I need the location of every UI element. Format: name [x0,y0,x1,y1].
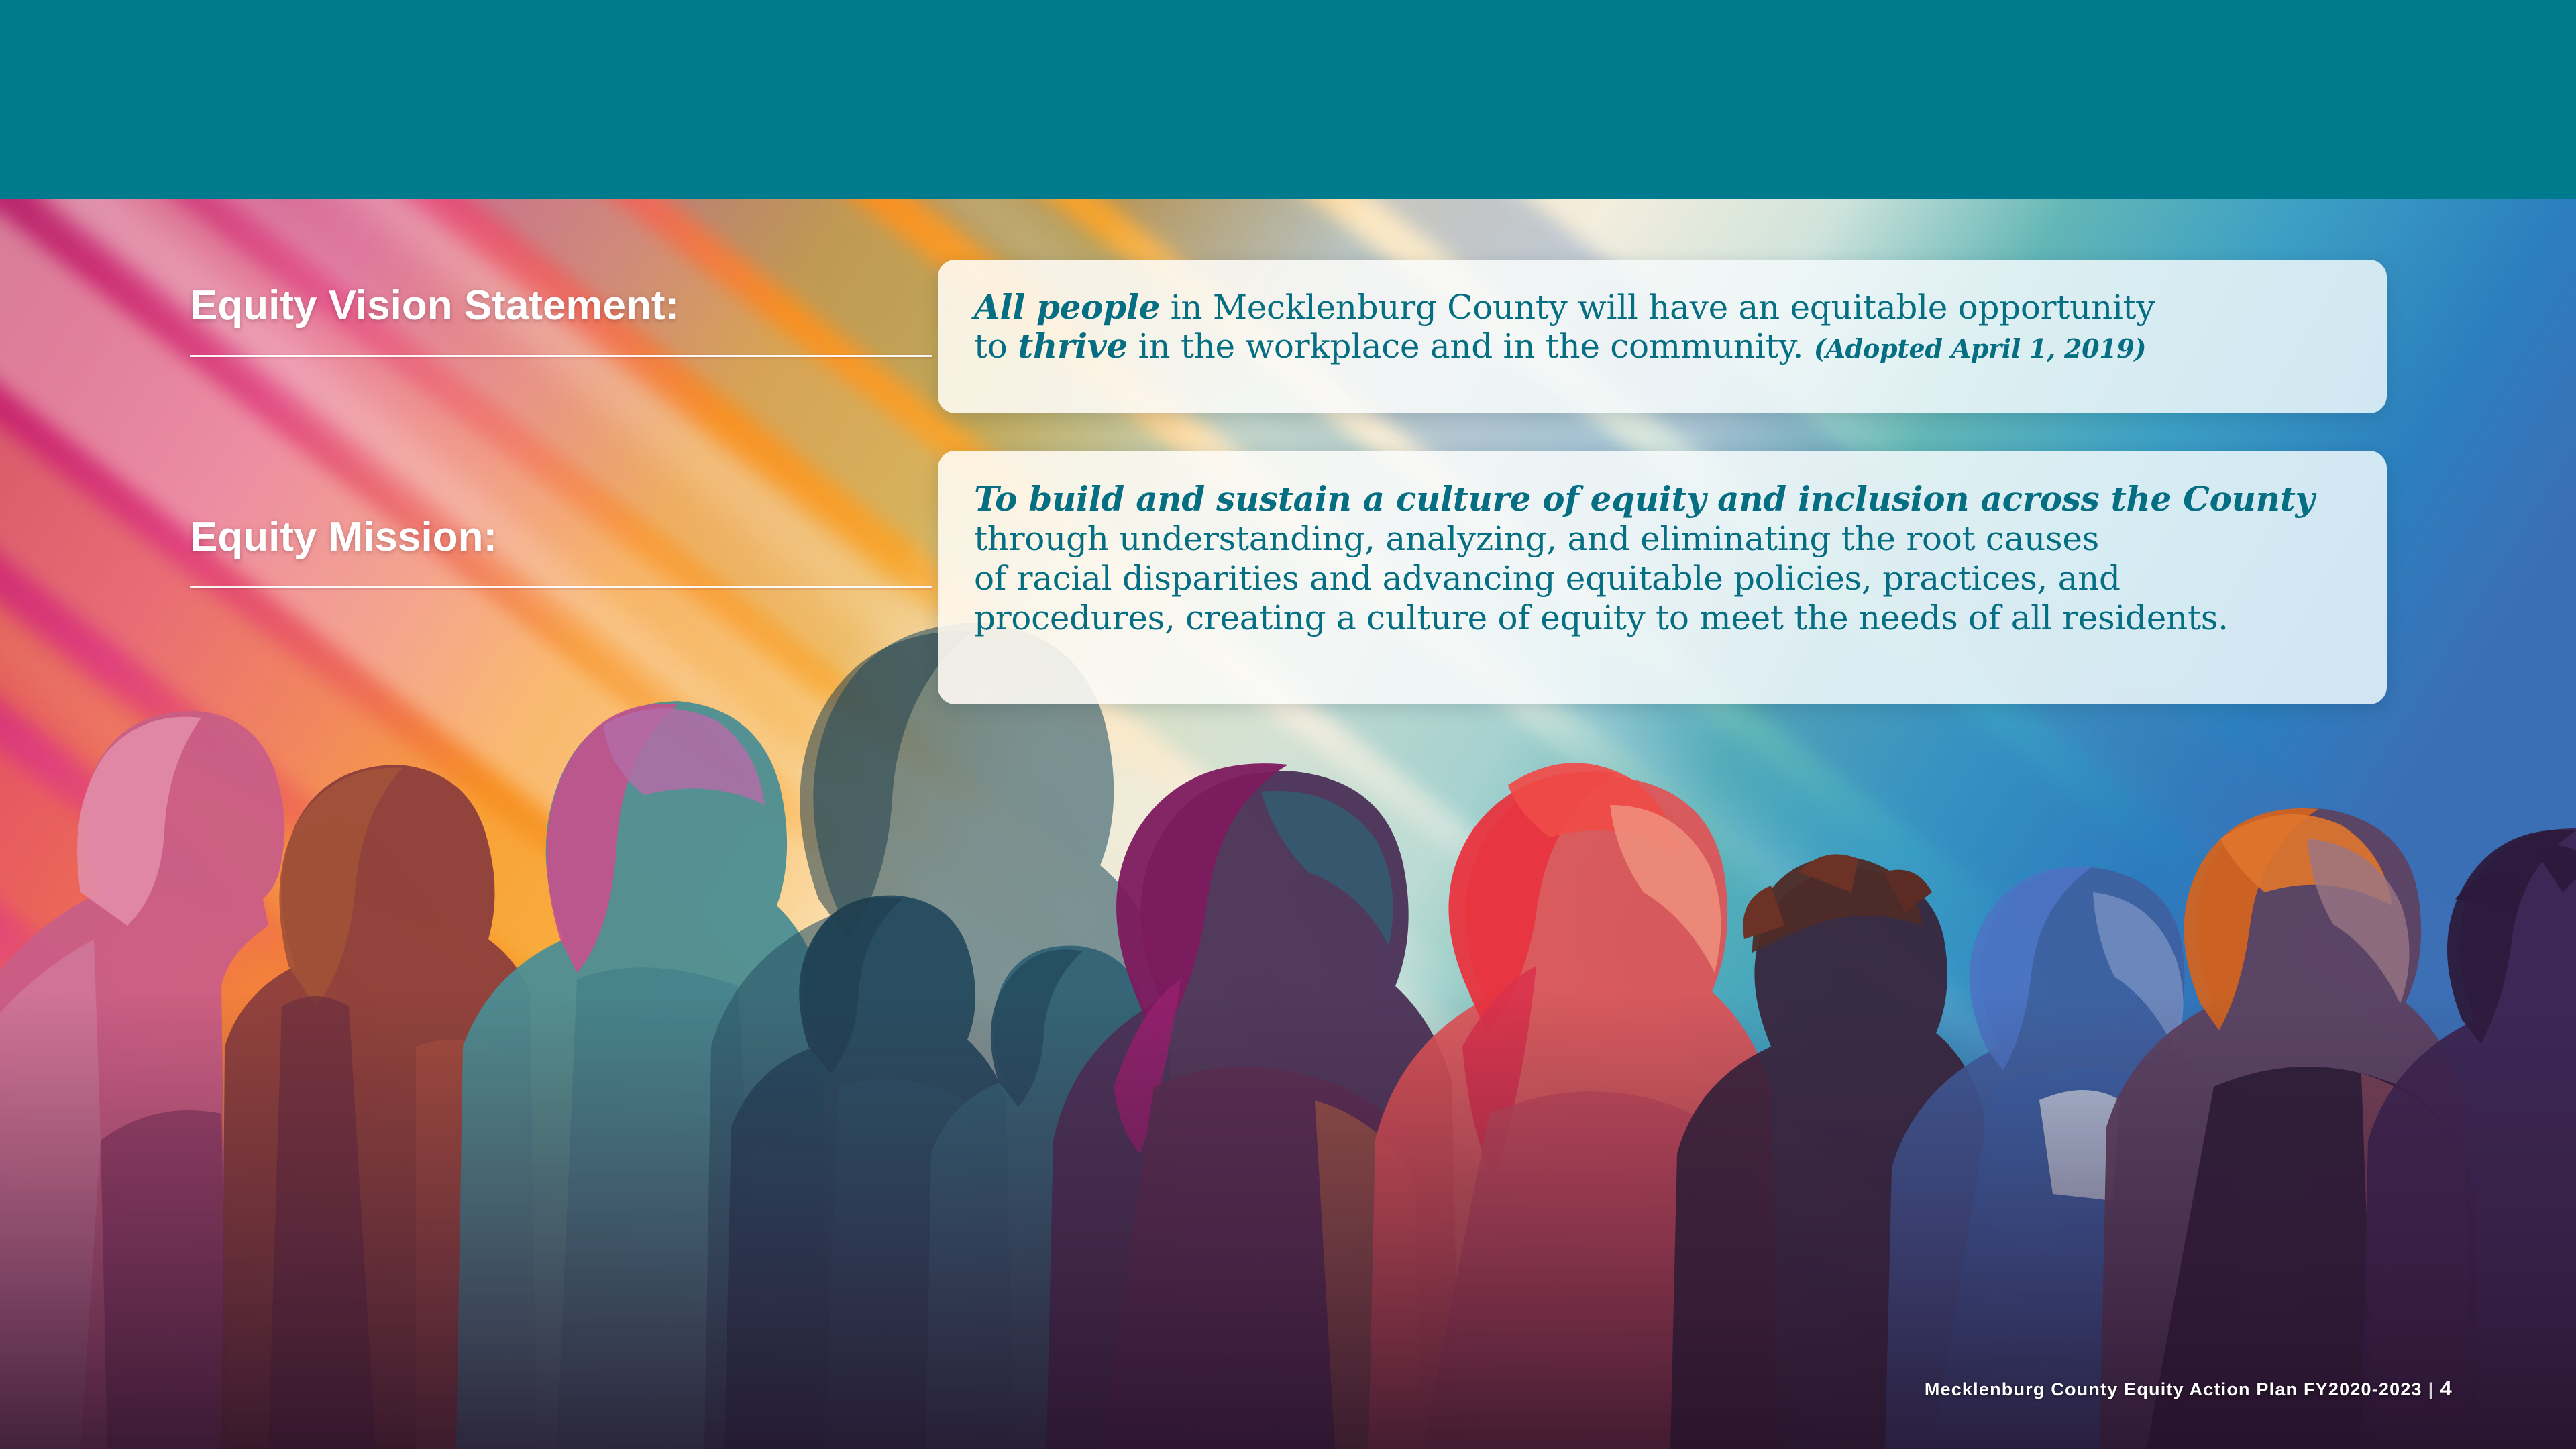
footer-separator: | [2428,1379,2434,1399]
vision-line2-prefix: to [974,327,1018,366]
footer-page-number: 4 [2440,1377,2453,1400]
vision-text-line1: in Mecklenburg County will have an equit… [1160,288,2155,327]
equity-mission-label: Equity Mission: [190,513,932,561]
mission-line-2: through understanding, analyzing, and el… [974,519,2099,558]
vision-line2-suffix: in the workplace and in the community. [1128,327,1814,366]
footer-document-title: Mecklenburg County Equity Action Plan FY… [1925,1379,2422,1399]
footer-credit: Mecklenburg County Equity Action Plan FY… [1925,1377,2453,1401]
vision-emphasis-thrive: thrive [1018,326,1128,366]
equity-vision-label-block: Equity Vision Statement: [190,282,932,357]
vision-underline-rule [190,355,932,357]
equity-vision-statement-text: All people in Mecklenburg County will ha… [974,288,2351,366]
equity-vision-label: Equity Vision Statement: [190,282,932,329]
mission-line-4: procedures, creating a culture of equity… [974,598,2229,637]
mission-line-3: of racial disparities and advancing equi… [974,559,2121,598]
equity-mission-statement-text: To build and sustain a culture of equity… [974,479,2351,638]
vision-emphasis-all-people: All people [974,287,1160,327]
equity-mission-statement-card: To build and sustain a culture of equity… [938,451,2387,704]
header-bar [0,0,2576,199]
equity-vision-statement-card: All people in Mecklenburg County will ha… [938,260,2387,413]
slide-canvas: Mecklenburg County Mission, Vision, and … [0,0,2576,1449]
background-artwork [0,0,2576,1449]
equity-mission-label-block: Equity Mission: [190,513,932,588]
vision-adopted-date: (Adopted April 1, 2019) [1814,333,2146,364]
mission-lead-line: To build and sustain a culture of equity… [974,479,2314,519]
mission-underline-rule [190,586,932,588]
